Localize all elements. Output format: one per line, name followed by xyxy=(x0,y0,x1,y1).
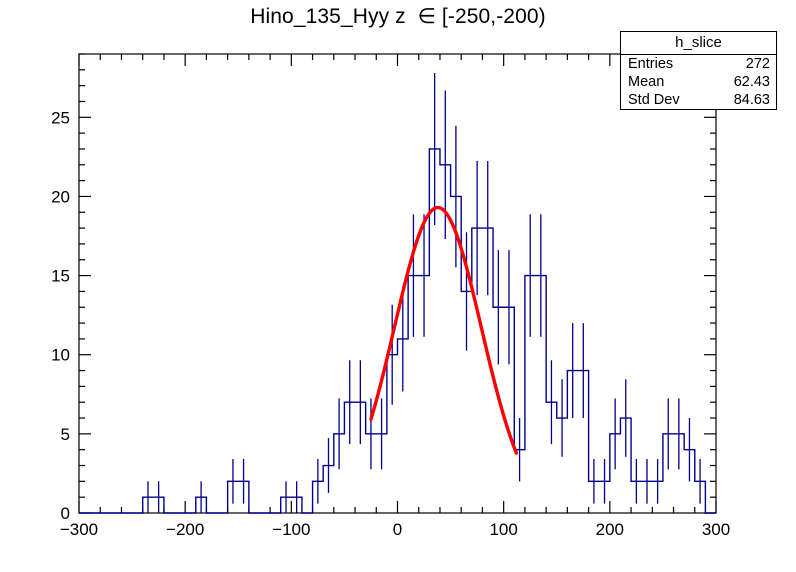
y-tick-label: 20 xyxy=(51,187,70,206)
x-tick-label: 300 xyxy=(702,520,730,539)
y-tick-label: 0 xyxy=(61,504,70,523)
stats-label: Std Dev xyxy=(628,92,680,108)
stats-rows: Entries272Mean62.43Std Dev84.63 xyxy=(621,55,776,109)
y-tick-label: 15 xyxy=(51,267,70,286)
gaussian-fit-curve xyxy=(371,208,516,454)
stats-value: 272 xyxy=(746,56,770,72)
y-tick-label: 5 xyxy=(61,425,70,444)
stats-label: Entries xyxy=(628,56,673,72)
stats-row: Mean62.43 xyxy=(621,73,776,91)
x-tick-label: 100 xyxy=(489,520,517,539)
plot-frame xyxy=(79,54,716,513)
x-tick-label: −200 xyxy=(166,520,204,539)
stats-label: Mean xyxy=(628,74,664,90)
stats-value: 84.63 xyxy=(734,92,770,108)
y-axis-ticks xyxy=(79,54,716,513)
x-tick-label: 0 xyxy=(393,520,402,539)
axis-frame xyxy=(79,54,716,513)
stats-row: Std Dev84.63 xyxy=(621,91,776,109)
root-canvas: Hino_135_Hyy z ∈ [-250,-200) −300−200−10… xyxy=(0,0,796,572)
y-tick-label: 10 xyxy=(51,346,70,365)
stats-value: 62.43 xyxy=(734,74,770,90)
stats-row: Entries272 xyxy=(621,55,776,73)
stats-title: h_slice xyxy=(621,32,776,55)
histogram-error-bars xyxy=(148,73,700,513)
x-tick-label: −100 xyxy=(272,520,310,539)
x-axis-tick-labels: −300−200−1000100200300 xyxy=(60,520,730,539)
x-axis-ticks xyxy=(79,54,716,513)
y-tick-label: 25 xyxy=(51,108,70,127)
statistics-box[interactable]: h_slice Entries272Mean62.43Std Dev84.63 xyxy=(620,31,777,110)
histogram-outline xyxy=(79,149,716,513)
y-axis-tick-labels: 0510152025 xyxy=(51,108,70,523)
x-tick-label: 200 xyxy=(596,520,624,539)
